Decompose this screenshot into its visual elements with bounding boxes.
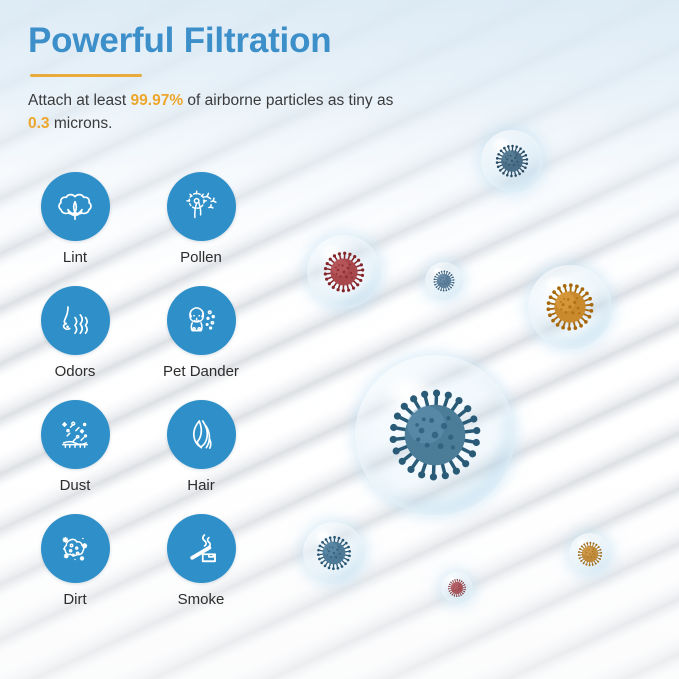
feature-item-pet-dander[interactable]: Pet Dander (150, 286, 252, 380)
bubble-virus-blue-bottom (303, 522, 365, 584)
virus-particle-icon (319, 247, 369, 297)
virus-particle-icon (541, 278, 599, 336)
bubble-virus-steel-small (425, 262, 463, 300)
bubble-virus-orange-bottom (569, 533, 611, 575)
cotton-boll-icon (41, 172, 110, 241)
nose-odor-waves-icon (41, 286, 110, 355)
subtitle-highlight-percent: 99.97% (131, 92, 184, 109)
feature-label: Lint (63, 249, 87, 266)
subtitle-text: Attach at least 99.97% of airborne parti… (28, 90, 408, 136)
feature-item-lint[interactable]: Lint (24, 172, 126, 266)
feature-label: Dust (60, 477, 91, 494)
bubble-virus-navy-top (481, 130, 543, 192)
hair-strand-icon (167, 400, 236, 469)
virus-particle-icon (575, 539, 605, 569)
filtration-feature-grid: Lint (24, 172, 252, 628)
feature-item-odors[interactable]: Odors (24, 286, 126, 380)
feature-item-dirt[interactable]: Dirt (24, 514, 126, 608)
subtitle-segment-3: microns. (50, 115, 113, 132)
dirt-clump-icon (41, 514, 110, 583)
feature-label: Odors (55, 363, 96, 380)
virus-particle-icon (431, 268, 457, 294)
gold-divider-rule (30, 74, 142, 77)
feature-row: Lint (24, 172, 252, 266)
feature-item-smoke[interactable]: Smoke (150, 514, 252, 608)
feature-row: Odors (24, 286, 252, 380)
feature-row: Dirt Smoke (24, 514, 252, 608)
bubble-virus-teal-large (355, 355, 515, 515)
subtitle-highlight-microns: 0.3 (28, 115, 50, 132)
bubble-virus-red-bottom (441, 572, 473, 604)
feature-item-pollen[interactable]: Pollen (150, 172, 252, 266)
powerful-filtration-poster: Powerful Filtration Attach at least 99.9… (0, 0, 679, 679)
virus-particle-icon (492, 141, 532, 181)
bubble-virus-red-left (307, 235, 381, 309)
subtitle-segment-1: Attach at least (28, 92, 131, 109)
dog-dander-icon (167, 286, 236, 355)
virus-particle-icon (313, 532, 355, 574)
dust-particles-icon (41, 400, 110, 469)
dandelion-icon (167, 172, 236, 241)
feature-label: Hair (187, 477, 215, 494)
feature-label: Pollen (180, 249, 222, 266)
header-block: Powerful Filtration Attach at least 99.9… (28, 22, 458, 136)
feature-label: Pet Dander (163, 363, 239, 380)
feature-label: Smoke (178, 591, 225, 608)
subtitle-segment-2: of airborne particles as tiny as (183, 92, 393, 109)
feature-item-dust[interactable]: Dust (24, 400, 126, 494)
bubble-virus-orange-right (528, 265, 612, 349)
cigarette-smoke-icon (167, 514, 236, 583)
feature-label: Dirt (63, 591, 86, 608)
virus-particle-icon (446, 577, 468, 599)
feature-row: Dust Hair (24, 400, 252, 494)
feature-item-hair[interactable]: Hair (150, 400, 252, 494)
virus-particle-icon (379, 379, 491, 491)
page-title: Powerful Filtration (28, 22, 458, 60)
